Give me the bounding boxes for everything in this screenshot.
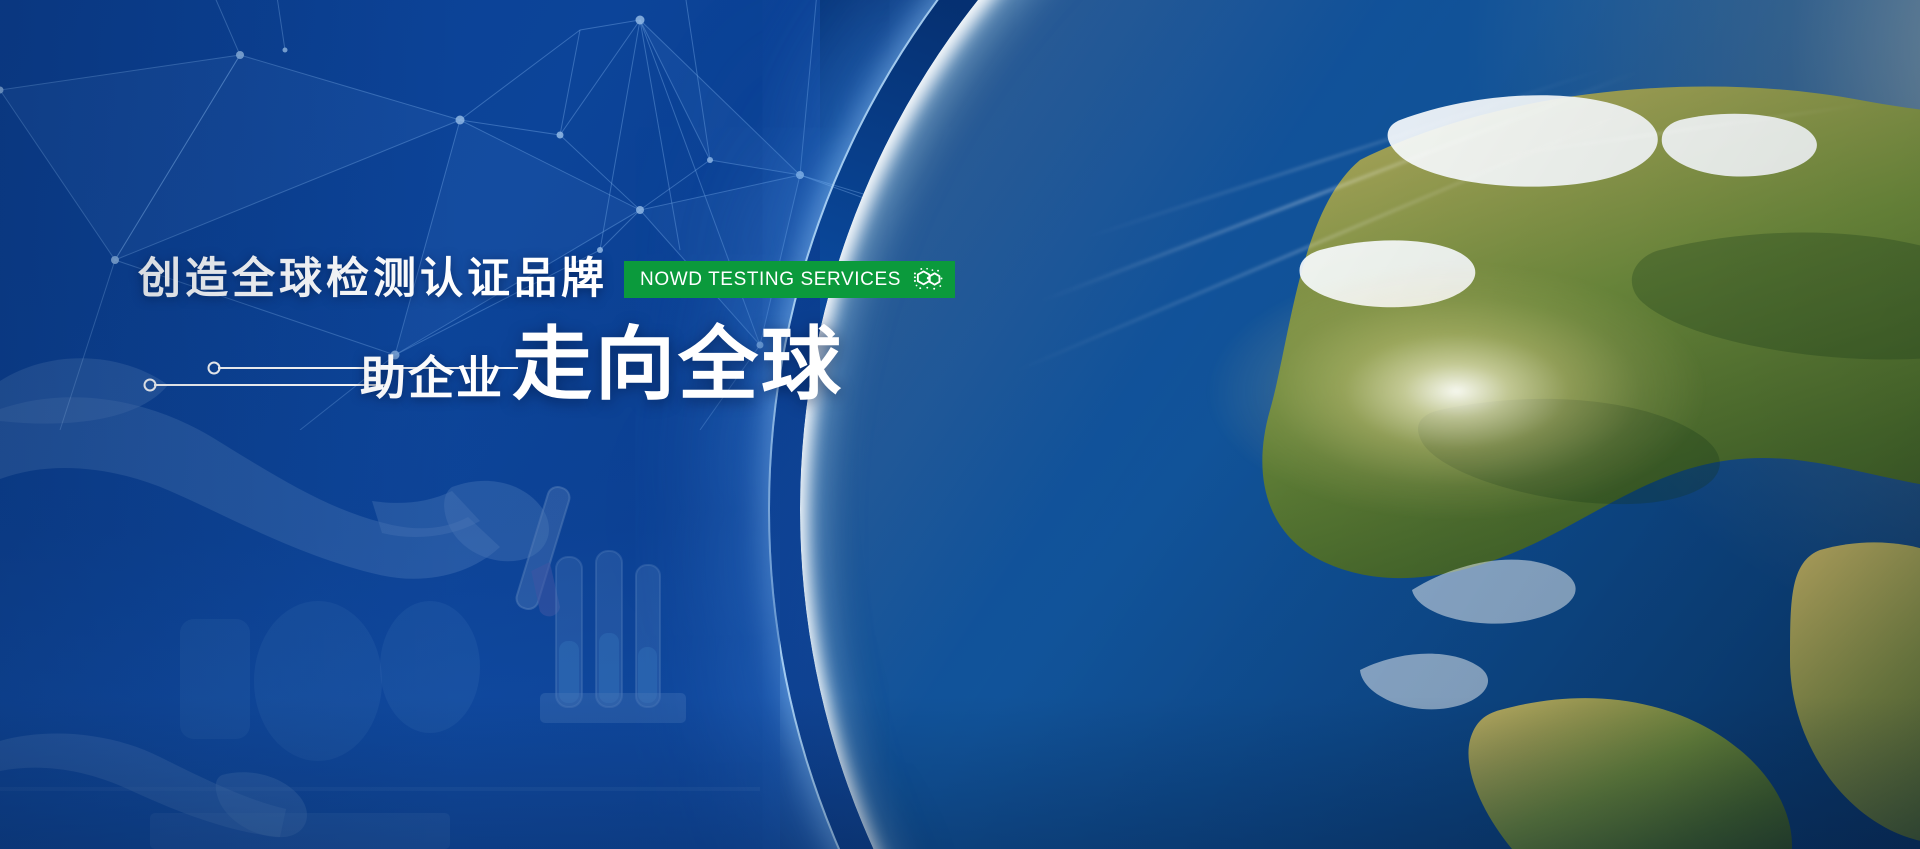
brand-badge-label: NOWD TESTING SERVICES — [640, 270, 901, 289]
subline-large-text: 走向全球 — [512, 325, 844, 405]
brand-badge: NOWD TESTING SERVICES — [624, 261, 955, 298]
subline-small-text: 助企业 — [360, 355, 504, 405]
headline-row: 创造全球检测认证品牌 NOWD TESTING SERVICES — [138, 258, 1038, 301]
subline-row: 助企业 走向全球 — [360, 325, 1038, 405]
molecule-hexagon-icon — [913, 267, 943, 292]
earth-landmasses — [800, 0, 1920, 849]
page-title: 创造全球检测认证品牌 — [138, 258, 608, 301]
hero-copy: 创造全球检测认证品牌 NOWD TESTING SERVICES — [138, 258, 1038, 405]
earth-globe — [800, 0, 1920, 849]
hero-banner: 创造全球检测认证品牌 NOWD TESTING SERVICES — [0, 0, 1920, 849]
